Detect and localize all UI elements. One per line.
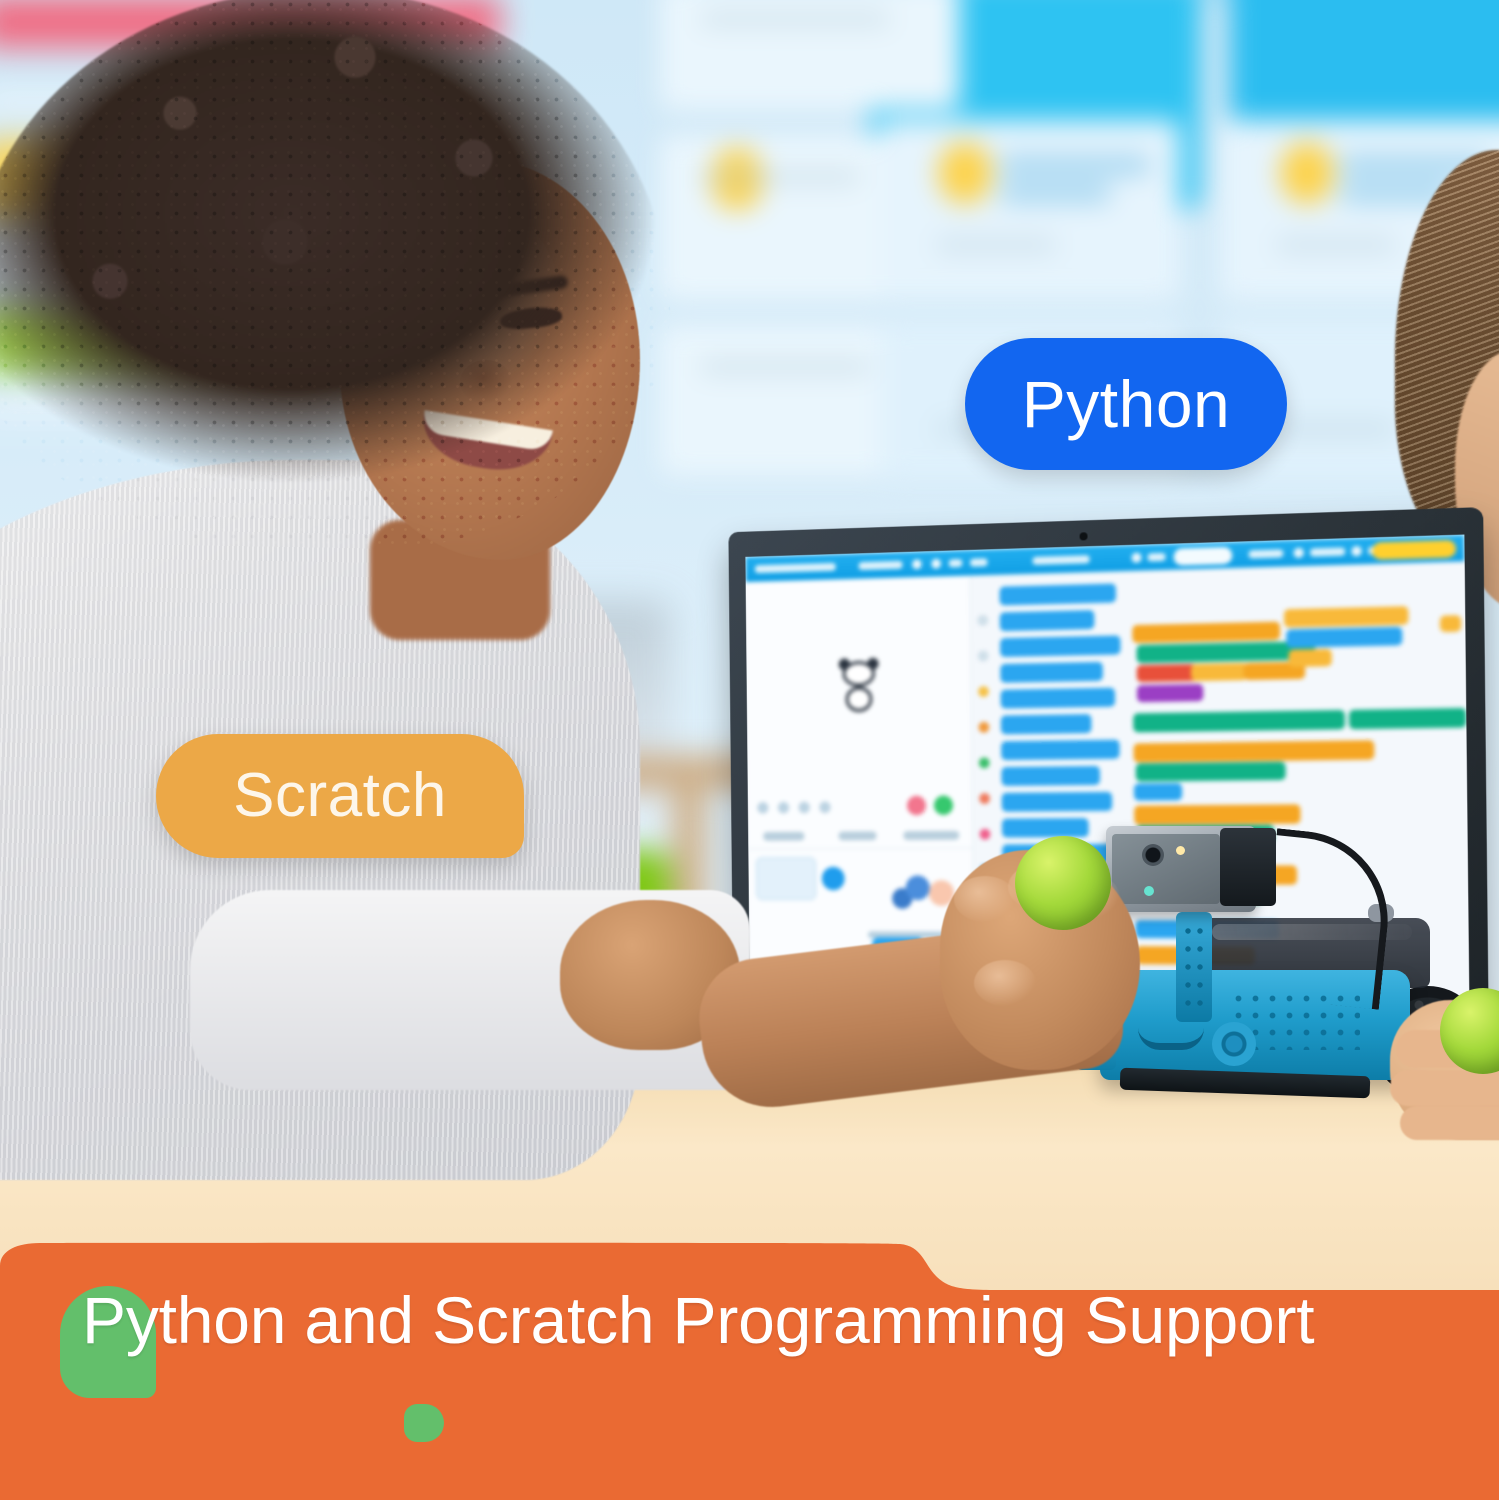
editor-primary-action[interactable]	[1372, 540, 1456, 560]
sprite-thumbnail[interactable]	[756, 857, 817, 900]
panda-sprite-icon	[839, 661, 879, 713]
caption-text: Python and Scratch Programming Support	[82, 1282, 1342, 1358]
panel-tabs[interactable]	[748, 823, 973, 850]
badge-python: Python	[965, 338, 1287, 470]
add-sprite-button[interactable]	[822, 867, 845, 890]
badge-scratch: Scratch	[156, 734, 524, 858]
stop-icon[interactable]	[907, 796, 926, 816]
caption-accent-dot	[404, 1404, 444, 1442]
badge-python-label: Python	[1022, 371, 1230, 437]
product-lifestyle-image: Python Scratch Python and Scratch Progra…	[0, 0, 1499, 1500]
robot-camera-icon	[1142, 844, 1164, 866]
stage-tools[interactable]	[757, 797, 963, 816]
green-ball-left	[1015, 836, 1111, 930]
badge-scratch-label: Scratch	[233, 765, 447, 827]
green-flag-icon[interactable]	[934, 795, 954, 815]
